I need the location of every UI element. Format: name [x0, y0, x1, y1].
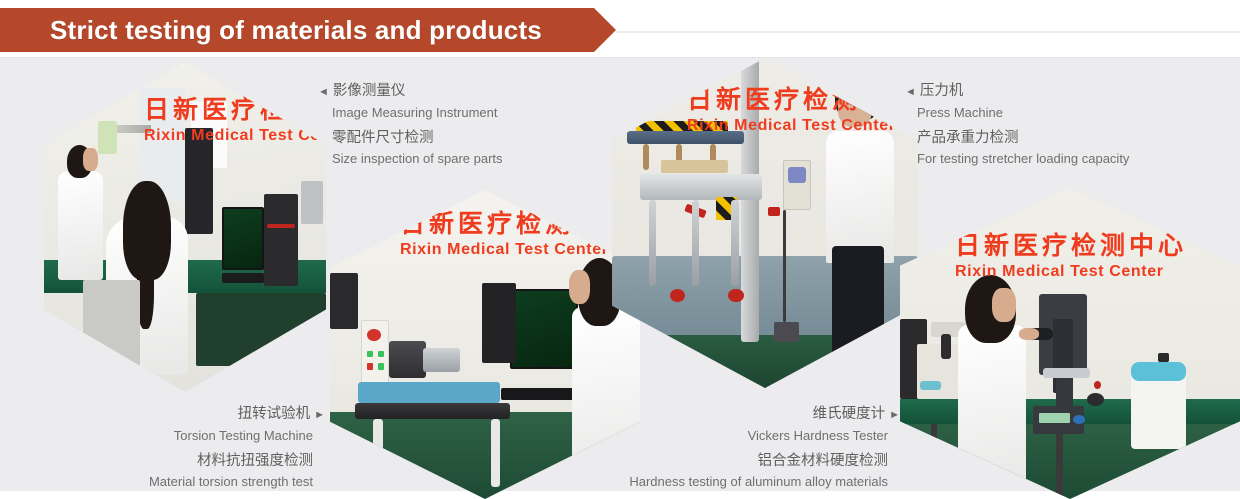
caption-desc-cn: 产品承重力检测: [905, 128, 1129, 149]
arrow-right-icon: ►: [314, 409, 325, 421]
section-title-ribbon: Strict testing of materials and products: [0, 8, 616, 52]
caption-title-row: 扭转试验机 ►: [35, 404, 325, 426]
caption-title-cn: 影像测量仪: [333, 83, 406, 99]
caption-vickers-hardness-tester: 维氏硬度计 ► Vickers Hardness Tester 铝合金材料硬度检…: [440, 404, 900, 492]
caption-title-row: 维氏硬度计 ►: [440, 404, 900, 426]
caption-title-en: Press Machine: [905, 103, 1129, 123]
caption-title-cn: 扭转试验机: [238, 406, 311, 422]
caption-desc-en: For testing stretcher loading capacity: [905, 149, 1129, 169]
caption-desc-cn: 材料抗扭强度检测: [35, 451, 325, 472]
caption-torsion-testing-machine: 扭转试验机 ► Torsion Testing Machine 材料抗扭强度检测…: [35, 404, 325, 492]
ribbon-baseline-rule: [616, 31, 1240, 33]
caption-title-cn: 维氏硬度计: [813, 406, 886, 422]
caption-title-row: ◄ 压力机: [905, 81, 1129, 103]
caption-title-en: Vickers Hardness Tester: [440, 426, 900, 446]
watermark-en: Rixin Medical Test Center: [144, 127, 326, 145]
arrow-left-icon: ◄: [318, 86, 329, 98]
caption-title-en: Torsion Testing Machine: [35, 426, 325, 446]
arrow-left-icon: ◄: [905, 86, 916, 98]
caption-title-cn: 压力机: [920, 83, 964, 99]
caption-title-row: ◄ 影像测量仪: [318, 81, 503, 103]
page-title: Strict testing of materials and products: [0, 15, 542, 46]
page-canvas: Strict testing of materials and products: [0, 0, 1240, 499]
watermark-en: Rixin Medical Test Center: [955, 263, 1240, 281]
caption-desc-en: Size inspection of spare parts: [318, 149, 503, 169]
caption-image-measuring-instrument: ◄ 影像测量仪 Image Measuring Instrument 零配件尺寸…: [318, 81, 503, 169]
caption-desc-cn: 铝合金材料硬度检测: [440, 451, 900, 472]
caption-desc-en: Hardness testing of aluminum alloy mater…: [440, 472, 900, 492]
caption-desc-en: Material torsion strength test: [35, 472, 325, 492]
arrow-right-icon: ►: [889, 409, 900, 421]
caption-title-en: Image Measuring Instrument: [318, 103, 503, 123]
caption-press-machine: ◄ 压力机 Press Machine 产品承重力检测 For testing …: [905, 81, 1129, 169]
caption-desc-cn: 零配件尺寸检测: [318, 128, 503, 149]
